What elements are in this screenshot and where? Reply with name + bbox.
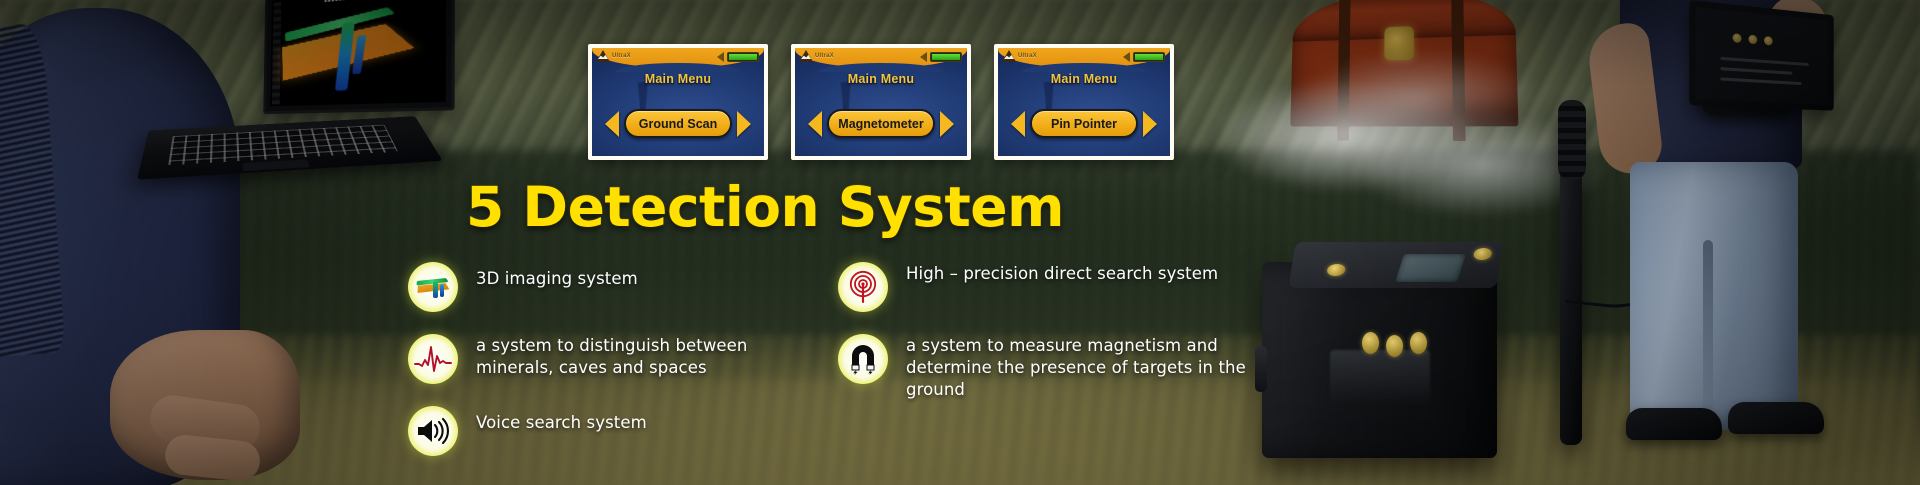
brand-logo-label: UltraX [1018, 53, 1037, 59]
device-status-bar: UltraX [998, 48, 1170, 68]
feature-list-left: 3D imaging system a system to distinguis… [408, 262, 828, 478]
mountain-logo-icon [596, 50, 610, 62]
feature-item: Voice search system [408, 406, 828, 456]
feature-item: a system to distinguish between minerals… [408, 334, 828, 384]
device-screen-pin-pointer[interactable]: UltraX Main Menu Pin Pointer [994, 44, 1174, 160]
feature-label: 3D imaging system [476, 262, 638, 290]
prev-mode-arrow-icon[interactable] [1011, 111, 1025, 137]
mountain-logo-icon [799, 50, 813, 62]
radar-glyph [846, 270, 880, 304]
feature-label: a system to measure magnetism and determ… [906, 334, 1278, 401]
device-menu-panels: UltraX Main Menu Ground Scan [588, 44, 1174, 160]
magnet-glyph [848, 343, 878, 375]
feature-label: a system to distinguish between minerals… [476, 334, 828, 379]
feature-item: a system to measure magnetism and determ… [838, 334, 1278, 401]
battery-icon [930, 52, 962, 62]
feature-label: High – precision direct search system [906, 262, 1218, 285]
speaker-icon [717, 52, 724, 62]
brand-logo: UltraX [596, 50, 631, 62]
device-screen-title: Main Menu [795, 72, 967, 86]
mountain-logo-icon [1002, 50, 1016, 62]
next-mode-arrow-icon[interactable] [737, 111, 751, 137]
page-title: 5 Detection System [466, 175, 1064, 239]
status-indicators [920, 52, 962, 62]
radar-target-icon [838, 262, 888, 312]
waveform-icon [408, 334, 458, 384]
brand-logo-label: UltraX [815, 53, 834, 59]
mode-button[interactable]: Pin Pointer [1030, 109, 1138, 138]
speaker-icon [408, 406, 458, 456]
magnet-icon [838, 334, 888, 384]
device-status-bar: UltraX [795, 48, 967, 68]
3d-terrain-icon [408, 262, 458, 312]
prev-mode-arrow-icon[interactable] [808, 111, 822, 137]
status-indicators [717, 52, 759, 62]
brand-logo: UltraX [799, 50, 834, 62]
device-status-bar: UltraX [592, 48, 764, 68]
device-screen-magnetometer[interactable]: UltraX Main Menu Magnetometer [791, 44, 971, 160]
feature-label: Voice search system [476, 406, 647, 434]
prev-mode-arrow-icon[interactable] [605, 111, 619, 137]
speaker-icon [920, 52, 927, 62]
next-mode-arrow-icon[interactable] [940, 111, 954, 137]
brand-logo-label: UltraX [612, 53, 631, 59]
device-screen-title: Main Menu [592, 72, 764, 86]
mode-button[interactable]: Magnetometer [827, 109, 935, 138]
speaker-glyph [416, 417, 450, 445]
battery-icon [1133, 52, 1165, 62]
status-indicators [1123, 52, 1165, 62]
feature-list-right: High – precision direct search system a … [838, 262, 1278, 423]
device-screen-ground-scan[interactable]: UltraX Main Menu Ground Scan [588, 44, 768, 160]
banner-stage: UltraX Main Menu Ground Scan [0, 0, 1920, 485]
next-mode-arrow-icon[interactable] [1143, 111, 1157, 137]
brand-logo: UltraX [1002, 50, 1037, 62]
mode-button[interactable]: Ground Scan [624, 109, 732, 138]
feature-item: 3D imaging system [408, 262, 828, 312]
battery-icon [727, 52, 759, 62]
device-screen-title: Main Menu [998, 72, 1170, 86]
waveform-glyph [414, 344, 452, 374]
speaker-icon [1123, 52, 1130, 62]
feature-item: High – precision direct search system [838, 262, 1278, 312]
